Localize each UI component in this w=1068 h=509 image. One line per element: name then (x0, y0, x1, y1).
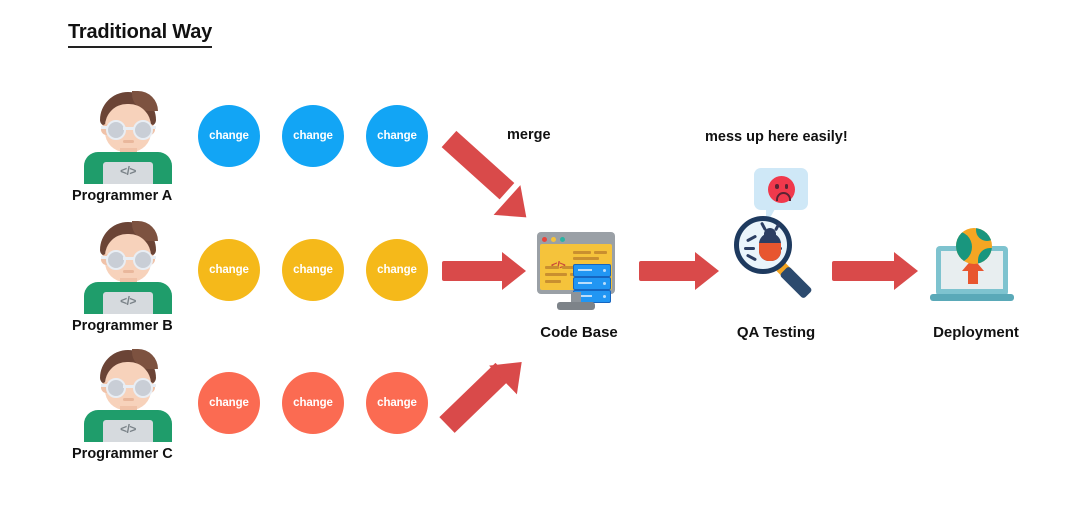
programmer-b-figure: </> Programmer B (72, 220, 184, 338)
page-title: Traditional Way (68, 21, 212, 48)
avatar-glasses-right-lens (133, 120, 153, 140)
globe-icon (956, 228, 992, 264)
merge-arrow-horizontal (442, 252, 526, 290)
qa-to-deployment-arrow (832, 252, 922, 290)
merge-arrow-up (447, 414, 557, 504)
window-dot-green (560, 237, 565, 242)
monitor-base (557, 302, 595, 310)
change-bubble-c3[interactable]: change (366, 372, 428, 434)
server-rack-2 (573, 277, 611, 290)
programmer-avatar-icon: </> (72, 90, 184, 182)
avatar-glasses-left-lens (106, 378, 126, 398)
avatar-mouth (123, 398, 134, 401)
code-glyph-icon: </> (103, 294, 153, 308)
server-rack-1 (573, 264, 611, 277)
programmer-avatar-icon: </> (72, 220, 184, 312)
avatar-glasses-right-lens (133, 250, 153, 270)
window-dot-yellow (551, 237, 556, 242)
deployment-icon (930, 228, 1022, 308)
code-glyph-icon: </> (103, 164, 153, 178)
change-bubble-a3[interactable]: change (366, 105, 428, 167)
magnifier-lens (734, 216, 792, 274)
window-dot-red (542, 237, 547, 242)
avatar-glasses-bridge (123, 385, 134, 388)
code-glyph-icon: </> (103, 422, 153, 436)
avatar-glasses-left-lens (106, 120, 126, 140)
change-bubble-a2[interactable]: change (282, 105, 344, 167)
laptop-base (930, 294, 1014, 301)
programmer-a-label: Programmer A (72, 188, 262, 204)
mess-up-label: mess up here easily! (705, 129, 848, 145)
avatar-glasses-bridge (123, 127, 134, 130)
magnifier-handle (779, 266, 812, 299)
diagram-canvas: Traditional Way </> Programmer A change … (0, 0, 1068, 509)
upload-arrow-stem (968, 268, 978, 284)
sad-face-eye-right (785, 184, 789, 189)
codebase-to-qa-arrow (639, 252, 721, 290)
change-bubble-a1[interactable]: change (198, 105, 260, 167)
programmer-a-figure: </> Programmer A (72, 90, 184, 208)
change-bubble-b3[interactable]: change (366, 239, 428, 301)
programmer-c-label: Programmer C (72, 446, 262, 462)
code-base-icon: </> (533, 232, 625, 314)
qa-testing-icon (728, 168, 824, 298)
code-base-label: Code Base (497, 324, 661, 341)
avatar-glasses-left-lens (106, 250, 126, 270)
sad-face-frown (776, 192, 791, 201)
sad-face-icon (768, 176, 795, 203)
change-bubble-c2[interactable]: change (282, 372, 344, 434)
programmer-b-label: Programmer B (72, 318, 262, 334)
change-bubble-b2[interactable]: change (282, 239, 344, 301)
qa-testing-label: QA Testing (694, 324, 858, 341)
avatar-glasses-right-lens (133, 378, 153, 398)
change-bubble-c1[interactable]: change (198, 372, 260, 434)
bug-belly (759, 243, 781, 261)
avatar-glasses-bridge (123, 257, 134, 260)
programmer-c-figure: </> Programmer C (72, 348, 184, 466)
change-bubble-b1[interactable]: change (198, 239, 260, 301)
avatar-mouth (123, 270, 134, 273)
avatar-mouth (123, 140, 134, 143)
deployment-label: Deployment (894, 324, 1058, 341)
merge-label: merge (507, 127, 551, 143)
programmer-avatar-icon: </> (72, 348, 184, 440)
sad-face-eye-left (775, 184, 779, 189)
